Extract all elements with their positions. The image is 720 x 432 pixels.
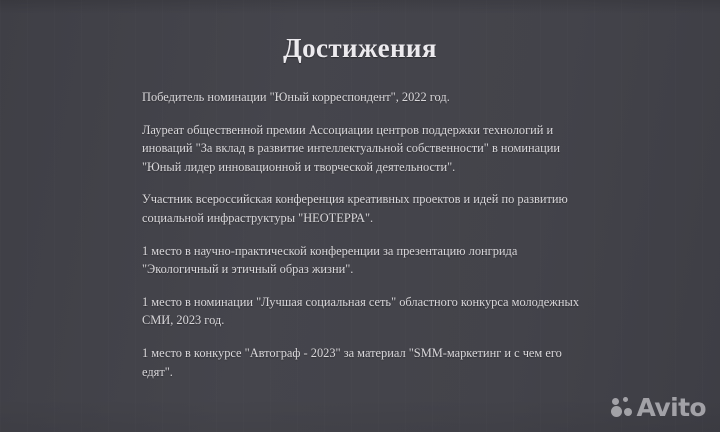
slide-canvas: Достижения Победитель номинации "Юный ко… (0, 0, 720, 432)
page-title: Достижения (0, 32, 720, 64)
avito-dot-bottom-left (611, 406, 622, 417)
achievement-item: Лауреат общественной премии Ассоциации ц… (142, 121, 590, 177)
achievements-list: Победитель номинации "Юный корреспондент… (142, 88, 590, 381)
avito-dots-icon (611, 397, 633, 418)
achievement-item: 1 место в конкурсе "Автограф - 2023" за … (142, 344, 590, 381)
achievement-item: 1 место в научно-практической конференци… (142, 242, 590, 279)
avito-watermark: Avito (611, 395, 706, 420)
achievement-item: Победитель номинации "Юный корреспондент… (142, 88, 590, 107)
avito-dot-top-left (612, 398, 619, 405)
avito-wordmark: Avito (637, 395, 706, 420)
avito-dot-top-right (623, 397, 628, 402)
avito-dot-bottom-right (624, 408, 632, 416)
achievement-item: 1 место в номинации "Лучшая социальная с… (142, 293, 590, 330)
achievement-item: Участник всероссийская конференция креат… (142, 190, 590, 227)
